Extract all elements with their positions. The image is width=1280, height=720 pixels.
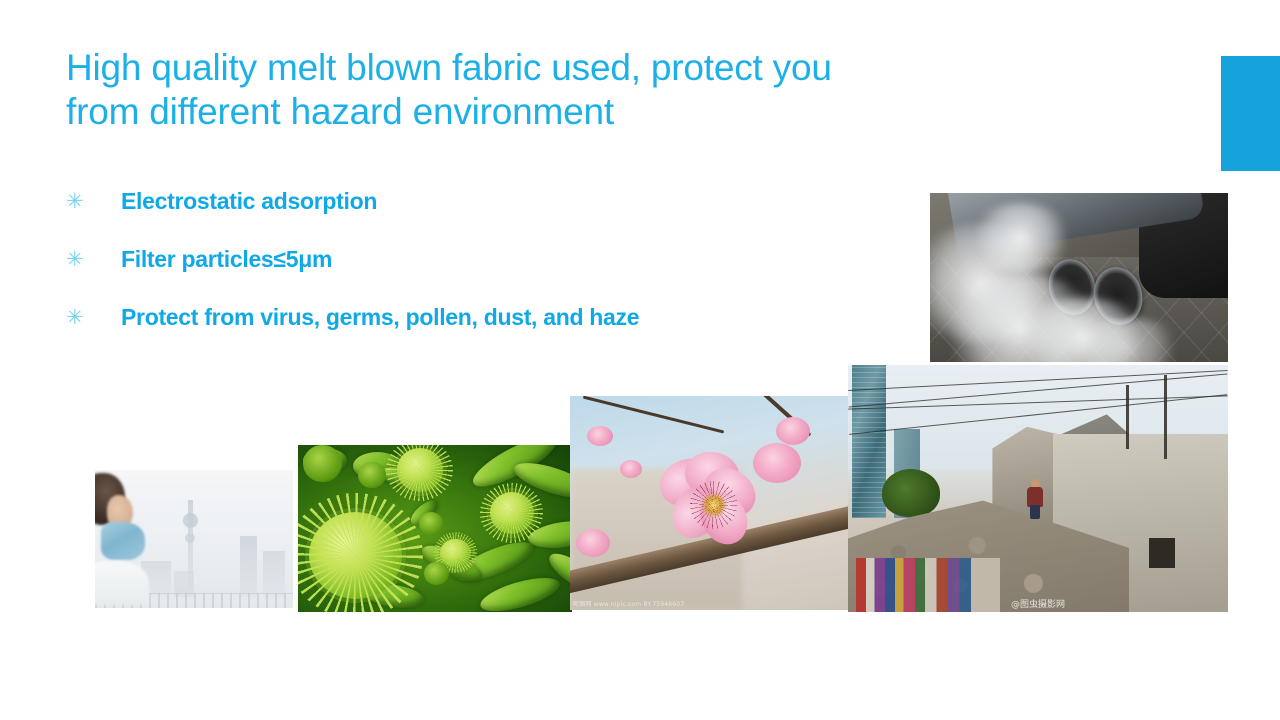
person-on-rubble-shape <box>1027 479 1043 517</box>
page-title: High quality melt blown fabric used, pro… <box>66 46 1006 134</box>
photo-exhaust-smoke <box>930 193 1228 362</box>
asterisk-bullet-icon: ✳ <box>66 244 121 274</box>
microbe-blob-shape <box>419 512 444 535</box>
list-item-label: Filter particles≤5μm <box>121 244 332 274</box>
window-shape <box>1149 538 1175 568</box>
photo-haze-content <box>95 470 293 608</box>
photo-rubble-content: @图虫摄影网 <box>848 365 1228 612</box>
list-item: ✳ Filter particles≤5μm <box>66 244 926 302</box>
microbe-blob-shape <box>424 562 449 585</box>
microbe-blob-shape <box>358 462 385 489</box>
list-item-label: Protect from virus, germs, pollen, dust,… <box>121 302 639 332</box>
photo-blossom-content: 昵图网 www.nipic.com BY.75946607 <box>570 396 848 610</box>
face-mask-shape <box>101 522 145 560</box>
virus-spiky-shape <box>490 492 534 534</box>
photo-dust-demolition: @图虫摄影网 <box>848 365 1228 612</box>
blossom-cluster-shape <box>576 529 610 557</box>
blossom-flower-shape <box>659 456 763 546</box>
person-shoulder-shape <box>95 561 149 605</box>
asterisk-bullet-icon: ✳ <box>66 186 121 216</box>
virus-spiky-shape <box>397 448 444 491</box>
microbe-blob-shape <box>303 445 341 482</box>
photo-exhaust-content <box>930 193 1228 362</box>
photo-germs-content <box>298 445 572 612</box>
virus-spiky-shape <box>309 512 402 599</box>
list-item-label: Electrostatic adsorption <box>121 186 377 216</box>
asterisk-bullet-icon: ✳ <box>66 302 121 332</box>
bacteria-rod-shape <box>477 571 563 612</box>
blossom-cluster-shape <box>776 417 810 445</box>
bullet-list: ✳ Electrostatic adsorption ✳ Filter part… <box>66 186 926 360</box>
tower-sphere-shape <box>185 533 195 543</box>
blossom-cluster-shape <box>587 426 613 446</box>
photo-watermark: @图虫摄影网 <box>1011 597 1065 610</box>
photo-germs-bacteria <box>298 445 572 612</box>
tower-sphere-shape <box>183 513 198 528</box>
virus-spiky-shape <box>440 539 470 567</box>
slide-canvas: High quality melt blown fabric used, pro… <box>0 0 1280 720</box>
smoke-cloud-shape <box>966 203 1076 273</box>
hanging-laundry-shape <box>856 558 1000 612</box>
utility-pole-shape <box>1126 385 1129 449</box>
photo-watermark: 昵图网 www.nipic.com BY.75946607 <box>573 599 684 608</box>
photo-pollen-blossoms: 昵图网 www.nipic.com BY.75946607 <box>570 396 848 610</box>
utility-pole-shape <box>1164 375 1167 459</box>
building-shape <box>240 536 257 597</box>
tree-shape <box>882 469 940 517</box>
accent-block <box>1221 56 1280 171</box>
photo-haze-city-mask <box>95 470 293 608</box>
list-item: ✳ Protect from virus, germs, pollen, dus… <box>66 302 926 360</box>
building-shape <box>263 551 285 597</box>
list-item: ✳ Electrostatic adsorption <box>66 186 926 244</box>
